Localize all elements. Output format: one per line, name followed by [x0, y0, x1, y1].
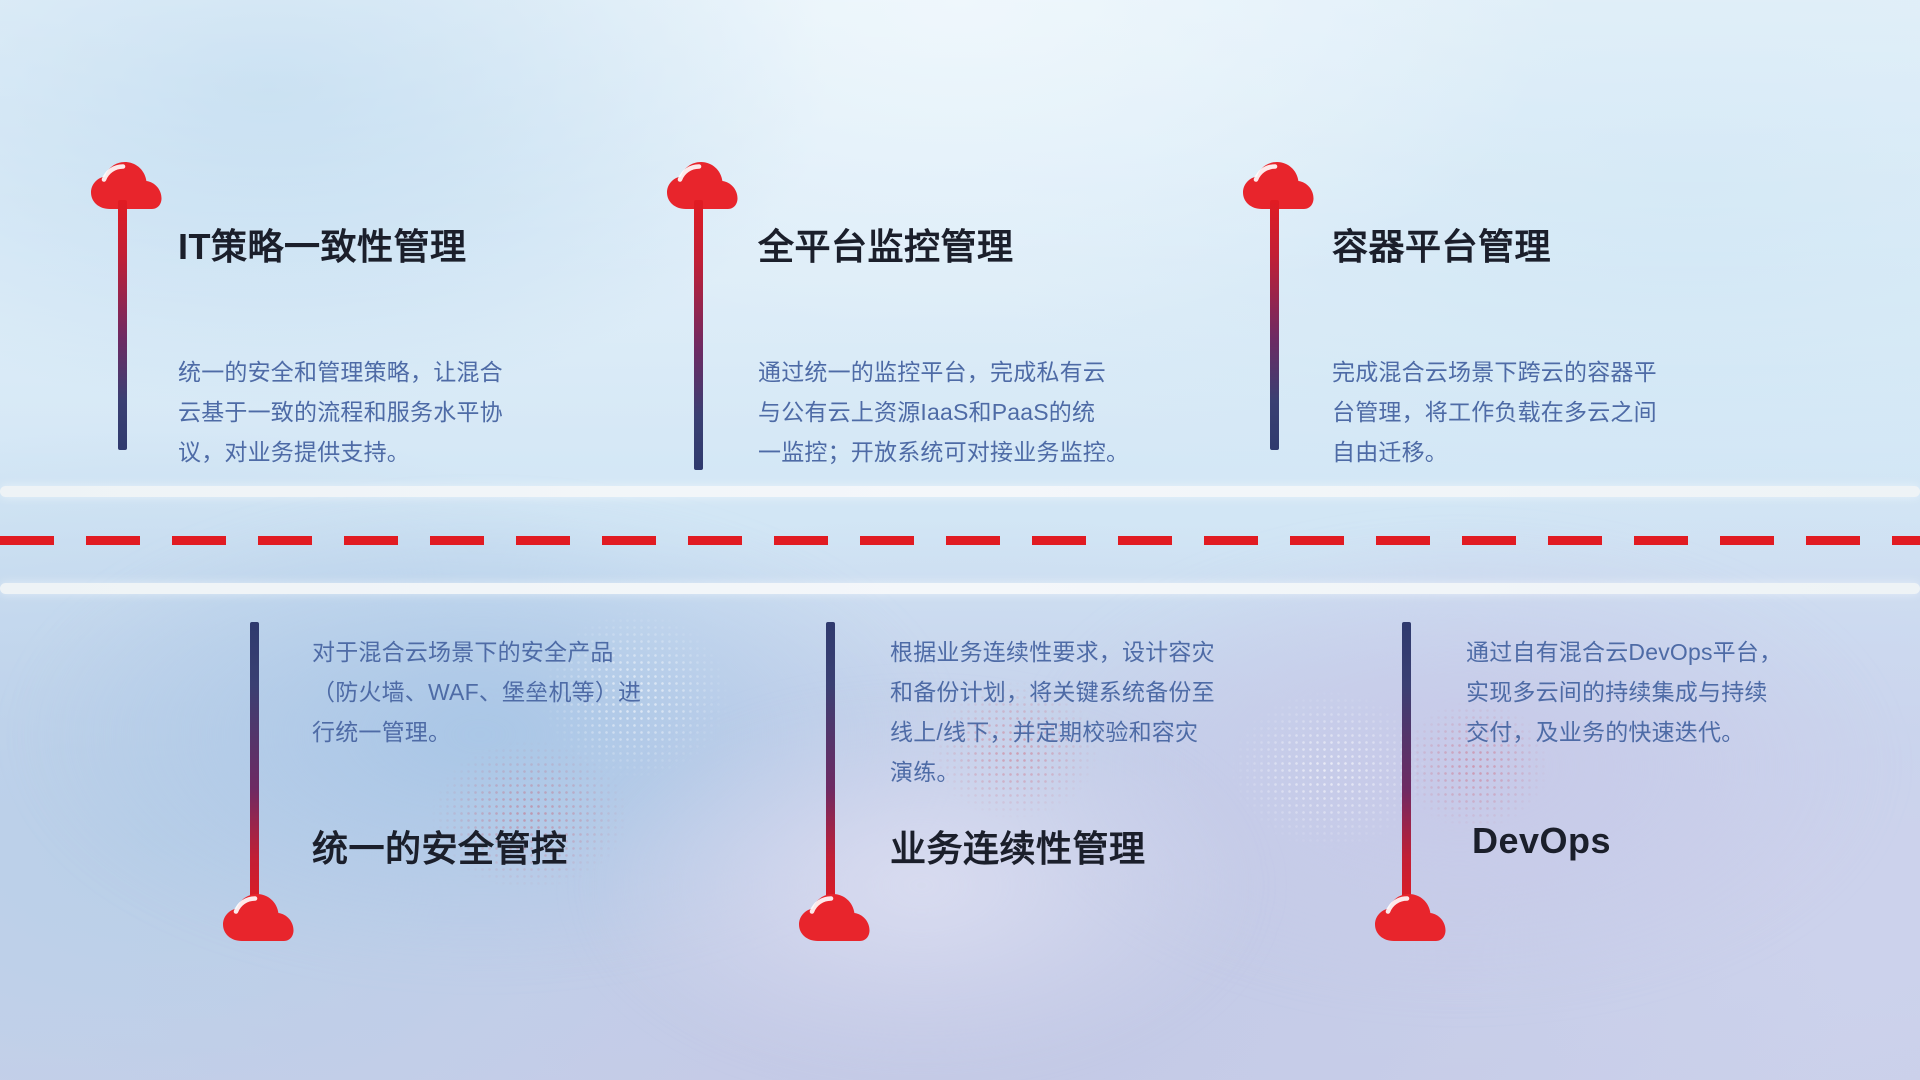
- column-title: IT策略一致性管理: [178, 218, 467, 270]
- cloud-icon: [1242, 160, 1316, 210]
- cloud-icon: [666, 160, 740, 210]
- column-body: 统一的安全和管理策略，让混合 云基于一致的流程和服务水平协 议，对业务提供支持。: [178, 352, 608, 472]
- center-divider: [0, 486, 1920, 594]
- divider-dashed-line: [0, 536, 1920, 545]
- stem-line: [1270, 200, 1279, 450]
- column-body: 根据业务连续性要求，设计容灾 和备份计划，将关键系统备份至 线上/线下，并定期校…: [890, 632, 1340, 792]
- column-title: 统一的安全管控: [312, 820, 568, 872]
- cloud-icon: [90, 160, 164, 210]
- column-body: 通过统一的监控平台，完成私有云 与公有云上资源IaaS和PaaS的统 一监控；开…: [758, 352, 1218, 472]
- column-body: 通过自有混合云DevOps平台， 实现多云间的持续集成与持续 交付，及业务的快速…: [1466, 632, 1896, 752]
- divider-line-bottom: [0, 583, 1920, 594]
- infographic-canvas: IT策略一致性管理 统一的安全和管理策略，让混合 云基于一致的流程和服务水平协 …: [0, 0, 1920, 1080]
- stem-line: [1402, 622, 1411, 910]
- stem-line: [250, 622, 259, 910]
- column-title: 全平台监控管理: [758, 218, 1014, 270]
- stem-line: [694, 200, 703, 470]
- divider-line-top: [0, 486, 1920, 497]
- cloud-icon: [1374, 892, 1448, 942]
- column-body: 对于混合云场景下的安全产品 （防火墙、WAF、堡垒机等）进 行统一管理。: [312, 632, 742, 752]
- column-title: 容器平台管理: [1332, 218, 1551, 270]
- column-title: DevOps: [1472, 820, 1611, 862]
- column-body: 完成混合云场景下跨云的容器平 台管理，将工作负载在多云之间 自由迁移。: [1332, 352, 1772, 472]
- stem-line: [118, 200, 127, 450]
- column-title: 业务连续性管理: [890, 820, 1146, 872]
- cloud-icon: [798, 892, 872, 942]
- stem-line: [826, 622, 835, 910]
- cloud-icon: [222, 892, 296, 942]
